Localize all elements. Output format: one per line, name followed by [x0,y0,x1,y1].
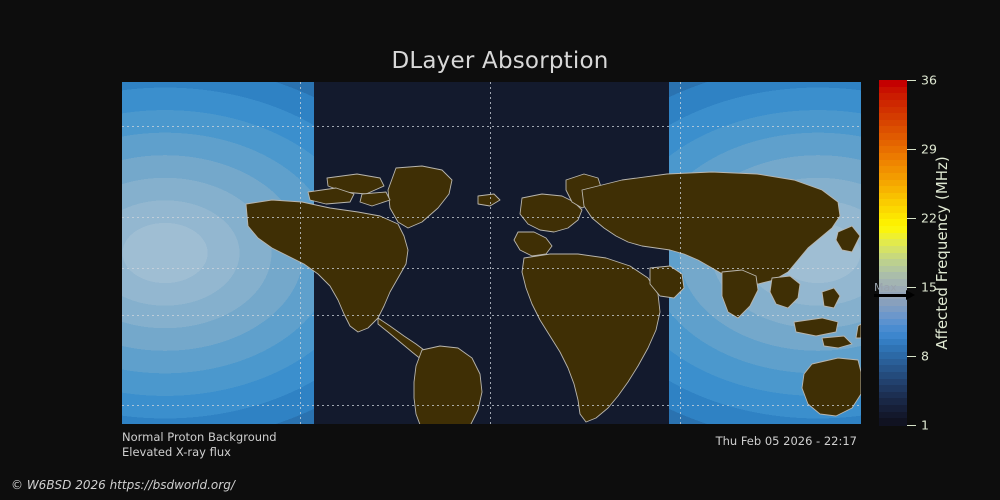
page-title: DLayer Absorption [0,48,1000,74]
colorbar-tick [907,356,916,357]
max-marker-arrow-icon [874,294,907,297]
max-marker: Max [872,282,922,304]
colorbar-gradient [879,80,907,425]
copyright-notice: © W6BSD 2026 https://bsdworld.org/ [11,478,235,492]
colorbar-tick [907,149,916,150]
colorbar-tick-label: 8 [921,349,929,364]
colorbar [879,80,907,425]
colorbar-tick [907,218,916,219]
timestamp: Thu Feb 05 2026 - 22:17 [0,434,857,448]
colorbar-axis-label-text: Affected Frequency (MHz) [933,156,951,350]
colorbar-tick [907,80,916,81]
colorbar-segment [879,418,907,425]
coastline-layer [122,82,861,424]
world-map[interactable] [122,82,861,424]
max-marker-label: Max [874,281,897,294]
dlayer-absorption-map-page: DLayer Absorption [0,0,1000,500]
colorbar-tick-label: 1 [921,418,929,433]
colorbar-tick [907,425,916,426]
colorbar-axis-label: Affected Frequency (MHz) [930,80,954,425]
